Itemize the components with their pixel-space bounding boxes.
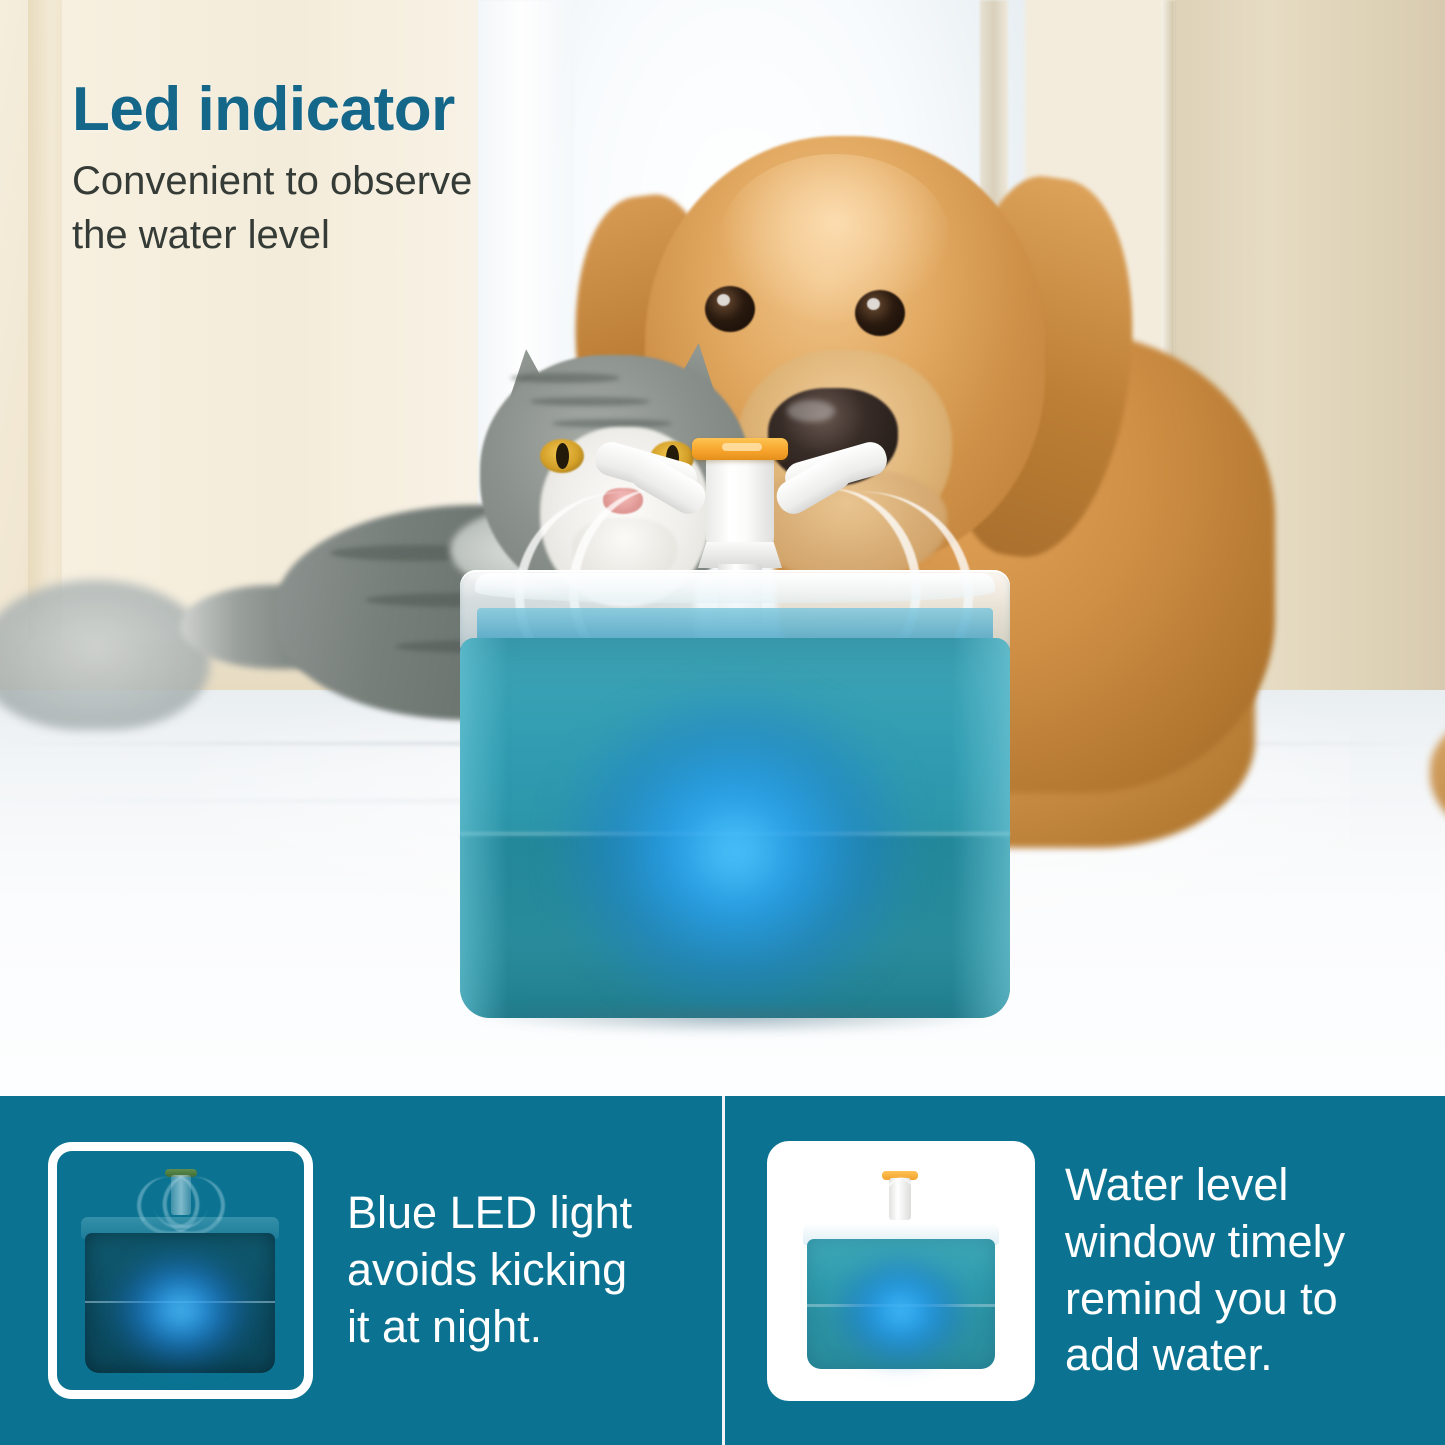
feature-blue-led: Blue LED light avoids kicking it at nigh…: [0, 1096, 722, 1445]
feature-line-3: remind you to: [1065, 1271, 1345, 1328]
feature-text-water-level: Water level window timely remind you to …: [1065, 1157, 1345, 1384]
feature-line-2: avoids kicking: [347, 1242, 632, 1299]
hero-photo: Led indicator Convenient to observe the …: [0, 0, 1445, 1096]
feature-line-1: Blue LED light: [347, 1185, 632, 1242]
pet-water-fountain-hero: [455, 430, 1015, 1030]
fountain-orange-cap: [692, 438, 788, 460]
feature-line-1: Water level: [1065, 1157, 1345, 1214]
thumbnail-blue-led: [48, 1142, 313, 1399]
subtitle-line-2: the water level: [72, 209, 472, 263]
dog-eye-left: [705, 286, 755, 332]
feature-line-4: add water.: [1065, 1327, 1345, 1384]
product-feature-image: Led indicator Convenient to observe the …: [0, 0, 1445, 1445]
page-title: Led indicator: [72, 78, 472, 141]
led-glow: [550, 680, 920, 1010]
feature-band: Blue LED light avoids kicking it at nigh…: [0, 1096, 1445, 1445]
subtitle-line-1: Convenient to observe: [72, 155, 472, 209]
pet-cushion: [0, 580, 210, 730]
headline-block: Led indicator Convenient to observe the …: [72, 78, 472, 262]
feature-water-level: Water level window timely remind you to …: [725, 1096, 1445, 1445]
thumbnail-water-level: [767, 1141, 1035, 1401]
feature-text-blue-led: Blue LED light avoids kicking it at nigh…: [347, 1185, 632, 1355]
feature-line-3: it at night.: [347, 1299, 632, 1356]
page-subtitle: Convenient to observe the water level: [72, 155, 472, 262]
dog-eye-right: [855, 290, 905, 336]
feature-line-2: window timely: [1065, 1214, 1345, 1271]
